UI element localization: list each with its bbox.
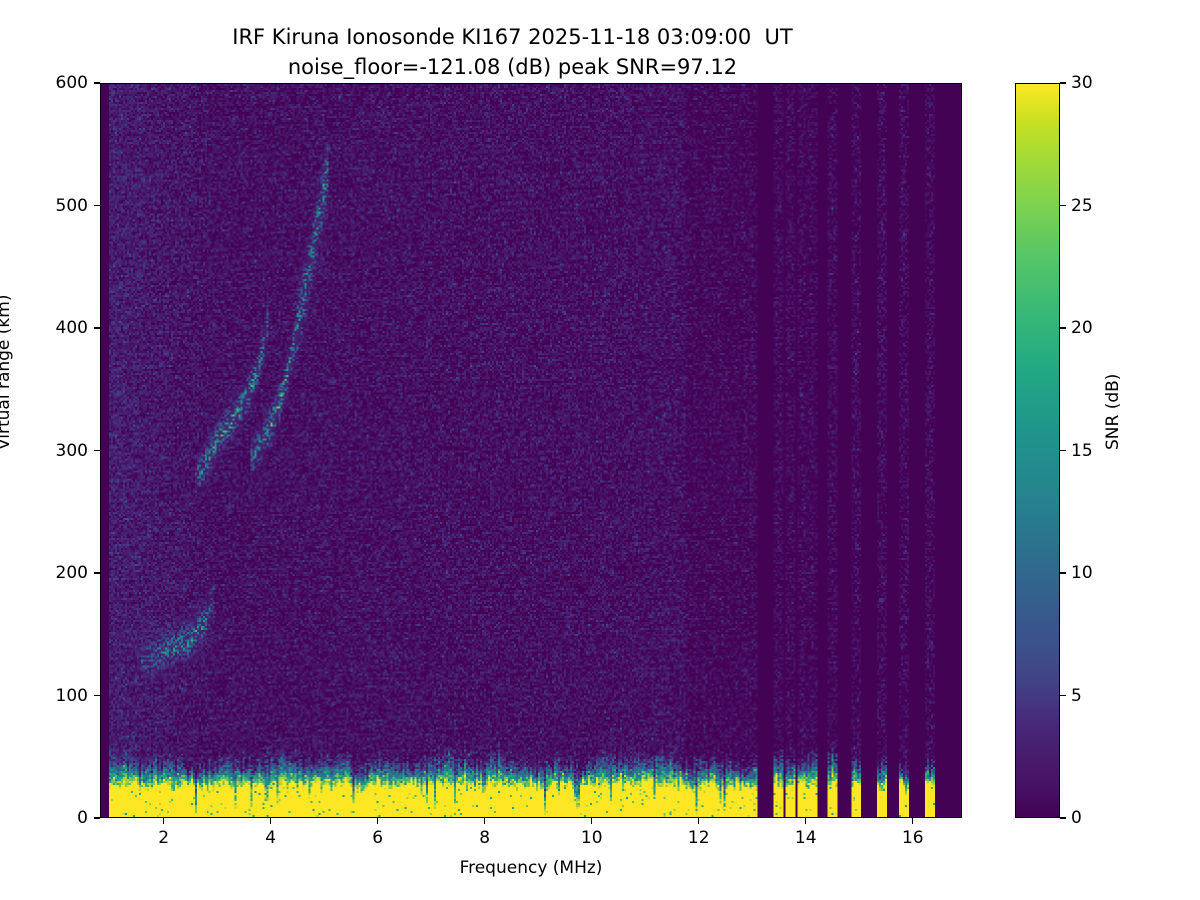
x-tick-label: 12	[688, 828, 710, 848]
colorbar-tick-label: 15	[1071, 441, 1093, 461]
colorbar-tick-label: 0	[1071, 808, 1082, 828]
colorbar[interactable]	[1015, 83, 1060, 818]
colorbar-tick-mark	[1060, 572, 1066, 573]
x-tick-label: 14	[795, 828, 817, 848]
x-tick-mark	[377, 818, 378, 824]
y-tick-mark	[94, 450, 100, 451]
x-tick-mark	[270, 818, 271, 824]
y-tick-mark	[94, 572, 100, 573]
colorbar-tick-label: 30	[1071, 73, 1093, 93]
x-tick-mark	[698, 818, 699, 824]
colorbar-tick-mark	[1060, 695, 1066, 696]
colorbar-label: SNR (dB)	[1103, 374, 1123, 450]
y-tick-mark	[94, 82, 100, 83]
x-tick-mark	[591, 818, 592, 824]
x-tick-label: 2	[158, 828, 169, 848]
y-tick-label: 0	[0, 808, 88, 828]
colorbar-tick-mark	[1060, 450, 1066, 451]
y-tick-label: 100	[0, 686, 88, 706]
x-tick-mark	[805, 818, 806, 824]
ionogram-plot-area[interactable]	[100, 83, 962, 818]
title-line-2: noise_floor=-121.08 (dB) peak SNR=97.12	[288, 55, 737, 79]
x-tick-label: 4	[265, 828, 276, 848]
y-tick-label: 500	[0, 196, 88, 216]
ionogram-heatmap	[101, 84, 961, 817]
colorbar-tick-mark	[1060, 817, 1066, 818]
y-tick-label: 600	[0, 73, 88, 93]
heatmap-canvas-layer	[101, 84, 961, 817]
y-tick-label: 200	[0, 563, 88, 583]
y-tick-label: 400	[0, 318, 88, 338]
ionogram-figure: IRF Kiruna Ionosonde KI167 2025-11-18 03…	[0, 0, 1200, 900]
y-tick-mark	[94, 327, 100, 328]
colorbar-tick-label: 10	[1071, 563, 1093, 583]
colorbar-tick-label: 5	[1071, 686, 1082, 706]
x-tick-mark	[912, 818, 913, 824]
colorbar-tick-mark	[1060, 205, 1066, 206]
colorbar-tick-label: 20	[1071, 318, 1093, 338]
x-tick-label: 10	[581, 828, 603, 848]
title-line-1: IRF Kiruna Ionosonde KI167 2025-11-18 03…	[232, 25, 792, 49]
x-tick-label: 16	[902, 828, 924, 848]
x-tick-mark	[484, 818, 485, 824]
colorbar-tick-mark	[1060, 327, 1066, 328]
y-tick-mark	[94, 695, 100, 696]
x-axis-label: Frequency (MHz)	[100, 858, 962, 878]
y-tick-mark	[94, 205, 100, 206]
y-tick-mark	[94, 817, 100, 818]
colorbar-tick-mark	[1060, 82, 1066, 83]
colorbar-tick-label: 25	[1071, 196, 1093, 216]
x-tick-label: 8	[479, 828, 490, 848]
y-tick-label: 300	[0, 441, 88, 461]
x-tick-label: 6	[372, 828, 383, 848]
figure-title: IRF Kiruna Ionosonde KI167 2025-11-18 03…	[0, 22, 1025, 82]
x-tick-mark	[163, 818, 164, 824]
